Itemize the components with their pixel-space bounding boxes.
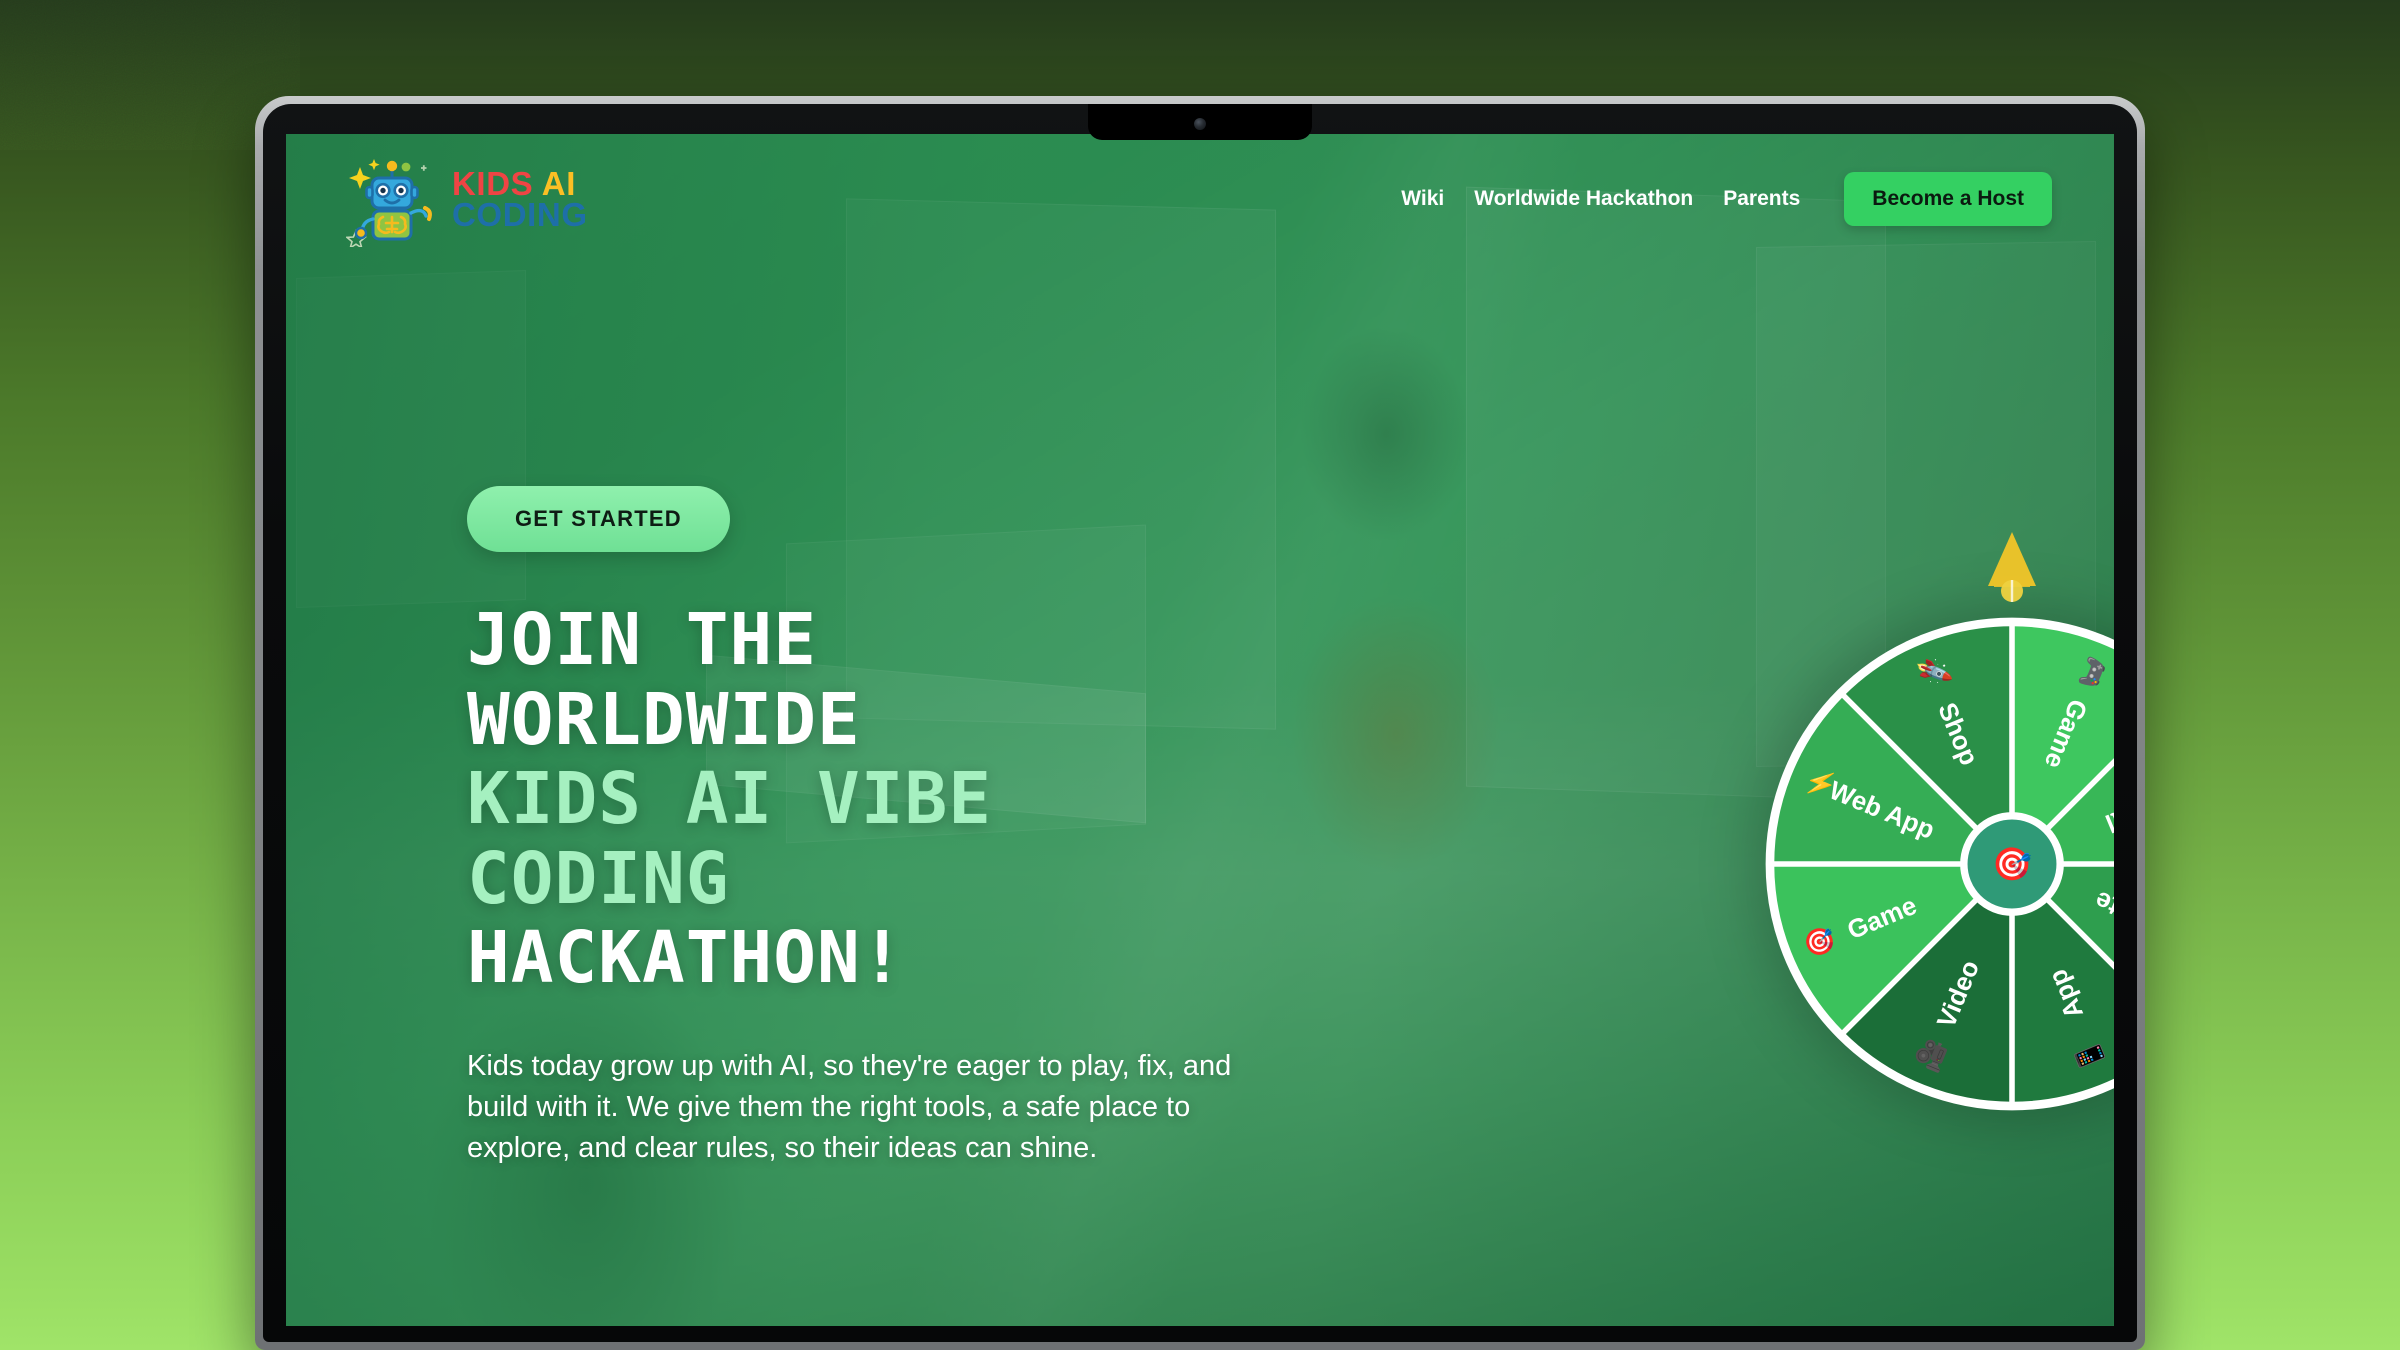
webcam-icon — [1194, 118, 1206, 130]
main-navigation: Wiki Worldwide Hackathon Parents Become … — [1401, 172, 2052, 226]
wheel-disc[interactable]: 🎯 🎮Game💻Social🌐Website📱App🎥Video🎯Game⚡We… — [1765, 617, 2114, 1111]
prize-wheel[interactable]: 🎯 🎮Game💻Social🌐Website📱App🎥Video🎯Game⚡We… — [1692, 544, 2114, 1184]
headline-line-4: CODING — [467, 839, 1367, 919]
hero-paragraph: Kids today grow up with AI, so they're e… — [467, 1046, 1267, 1170]
laptop-notch — [1088, 104, 1312, 140]
brand-wordmark: KIDS AI CODING — [452, 168, 588, 231]
website-content: KIDS AI CODING Wiki Worldwide Hackathon … — [286, 134, 2114, 1326]
laptop-screen: KIDS AI CODING Wiki Worldwide Hackathon … — [286, 134, 2114, 1326]
headline-line-1: JOIN THE — [467, 600, 1367, 680]
triangle-pointer-icon — [1984, 528, 2040, 602]
laptop-mockup: KIDS AI CODING Wiki Worldwide Hackathon … — [255, 96, 2145, 1350]
nav-link-worldwide-hackathon[interactable]: Worldwide Hackathon — [1474, 187, 1693, 211]
nav-link-parents[interactable]: Parents — [1723, 187, 1800, 211]
nav-link-wiki[interactable]: Wiki — [1401, 187, 1444, 211]
brand-logo[interactable]: KIDS AI CODING — [346, 151, 588, 247]
headline-line-5: HACKATHON! — [467, 918, 1367, 998]
page-background: KIDS AI CODING Wiki Worldwide Hackathon … — [0, 0, 2400, 1350]
become-a-host-button[interactable]: Become a Host — [1844, 172, 2052, 226]
headline-line-3: KIDS AI VIBE — [467, 759, 1367, 839]
headline-line-2: WORLDWIDE — [467, 680, 1367, 760]
page-title: JOIN THE WORLDWIDE KIDS AI VIBE CODING H… — [467, 600, 1367, 998]
wheel-svg[interactable]: 🎯 🎮Game💻Social🌐Website📱App🎥Video🎯Game⚡We… — [1765, 617, 2114, 1111]
site-header: KIDS AI CODING Wiki Worldwide Hackathon … — [286, 134, 2114, 264]
get-started-button[interactable]: GET STARTED — [467, 486, 730, 552]
robot-brain-icon — [346, 151, 438, 247]
hero-section: GET STARTED JOIN THE WORLDWIDE KIDS AI V… — [467, 486, 1367, 1169]
wheel-hub-dart-icon: 🎯 — [1992, 846, 2032, 882]
brand-coding-text: CODING — [452, 199, 588, 230]
